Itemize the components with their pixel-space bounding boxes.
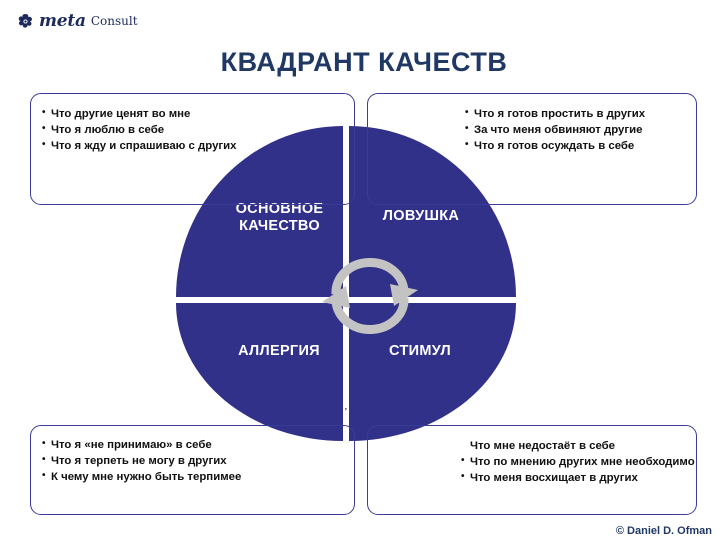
quadrant-label-challenge: СТИМУЛ: [356, 343, 484, 360]
list-item: Что мне недостаёт в себе: [461, 438, 696, 454]
callout-list: Что мне недостаёт в себе Что по мнению д…: [368, 426, 696, 487]
callout-core-quality[interactable]: Что другие ценят во мне Что я люблю в се…: [30, 93, 355, 205]
callout-list: Что другие ценят во мне Что я люблю в се…: [31, 94, 354, 155]
list-item: Что я готов осуждать в себе: [465, 138, 696, 154]
quadrant-label-pitfall: ЛОВУШКА: [356, 208, 486, 225]
divider-artifact-mark: ’: [344, 408, 352, 416]
spiral-flower-icon: [16, 12, 35, 31]
quadrant-label-allergy: АЛЛЕРГИЯ: [214, 343, 344, 360]
logo-word-primary: meta: [39, 11, 86, 31]
list-item: Что меня восхищает в других: [461, 470, 696, 486]
callout-list: Что я «не принимаю» в себе Что я терпеть…: [31, 426, 354, 486]
callout-list: Что я готов простить в других За что мен…: [368, 94, 696, 155]
callout-pitfall[interactable]: Что я готов простить в других За что мен…: [367, 93, 697, 205]
logo-word-secondary: Consult: [91, 14, 138, 28]
copyright-notice: © Daniel D. Ofman: [616, 525, 712, 537]
callout-challenge[interactable]: Что мне недостаёт в себе Что по мнению д…: [367, 425, 697, 515]
list-item: Что по мнению других мне необходимо: [461, 454, 696, 470]
quadrant-bottom-left[interactable]: [176, 303, 343, 441]
callout-allergy[interactable]: Что я «не принимаю» в себе Что я терпеть…: [30, 425, 355, 515]
list-item: Что я «не принимаю» в себе: [42, 437, 354, 453]
slide-canvas: meta Consult КВАДРАНТ КАЧЕСТВ ОСНОВНОЕ К…: [0, 0, 728, 546]
list-item: Что я терпеть не могу в других: [42, 453, 354, 469]
list-item: Что я готов простить в других: [465, 106, 696, 122]
list-item: Что другие ценят во мне: [42, 106, 354, 122]
list-item: К чему мне нужно быть терпимее: [42, 469, 354, 485]
page-title: КВАДРАНТ КАЧЕСТВ: [0, 47, 728, 78]
quadrant-label-core-quality: ОСНОВНОЕ КАЧЕСТВО: [216, 201, 343, 234]
list-item: Что я жду и спрашиваю с других: [42, 138, 354, 154]
logo: meta Consult: [16, 11, 138, 31]
quadrant-bottom-right[interactable]: [349, 303, 516, 441]
list-item: Что я люблю в себе: [42, 122, 354, 138]
list-item: За что меня обвиняют другие: [465, 122, 696, 138]
